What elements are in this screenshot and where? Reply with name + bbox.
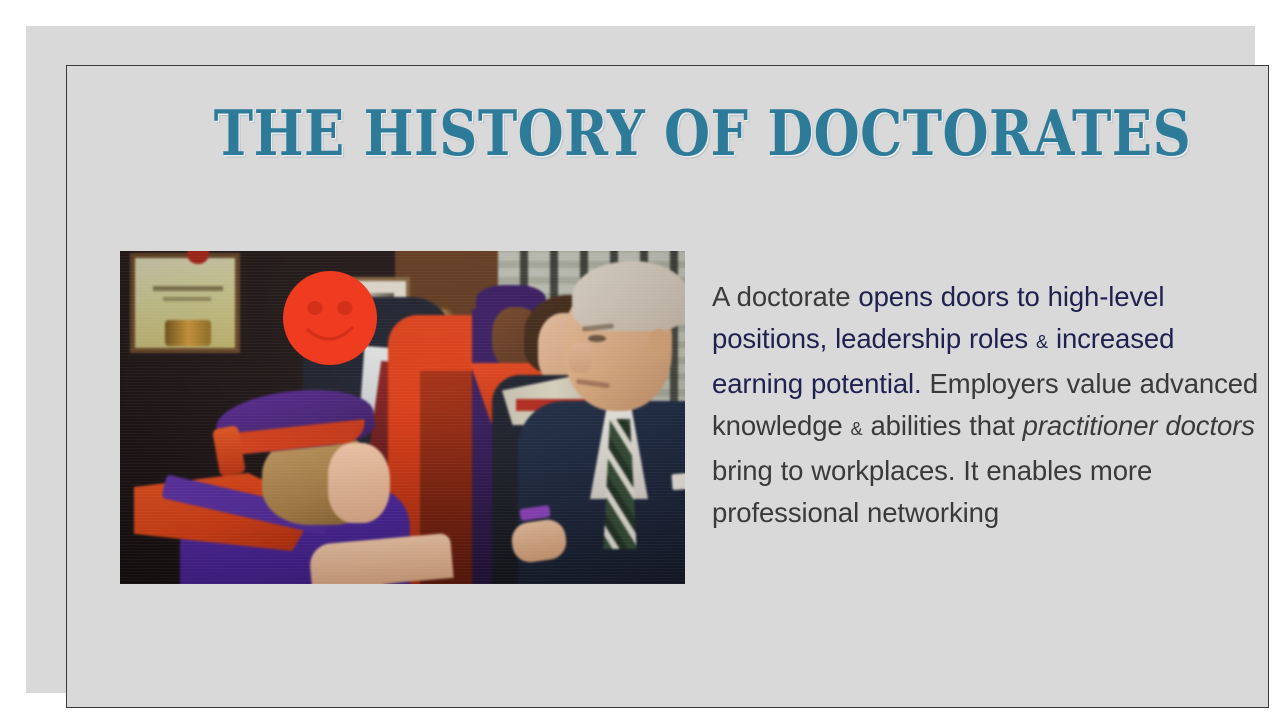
photo-block[interactable] [120, 251, 685, 584]
body-paragraph: A doctorate opens doors to high-level po… [712, 276, 1264, 534]
body-segment-0: A doctorate [712, 281, 858, 312]
wall-frame-left [130, 253, 240, 353]
body-segment-6: abilities that [863, 410, 1023, 441]
slide-title: THE HISTORY OF DOCTORATES [214, 102, 1125, 165]
slide-canvas: THE HISTORY OF DOCTORATES [26, 26, 1255, 693]
smiley-face-icon[interactable] [282, 270, 378, 366]
graduand-face [328, 443, 390, 523]
person-suit-nose [568, 343, 592, 373]
wall-frame-left-emblem [165, 320, 211, 346]
body-segment-7: practitioner doctors [1023, 410, 1255, 441]
ceremony-photograph[interactable] [120, 251, 685, 584]
wall-frame-left-line2 [163, 297, 211, 301]
person-suit-pocket-square [671, 472, 685, 490]
body-segment-5: & [851, 419, 863, 439]
wall-frame-left-line1 [153, 286, 223, 291]
person-suit-ear [648, 329, 670, 359]
body-segment-8: bring to workplaces. It enables more pro… [712, 455, 1152, 528]
body-segment-2: & [1036, 332, 1048, 352]
person-suit-eye [588, 335, 606, 342]
slide-border-frame: THE HISTORY OF DOCTORATES [66, 65, 1269, 708]
person-suit-hair [572, 261, 685, 331]
